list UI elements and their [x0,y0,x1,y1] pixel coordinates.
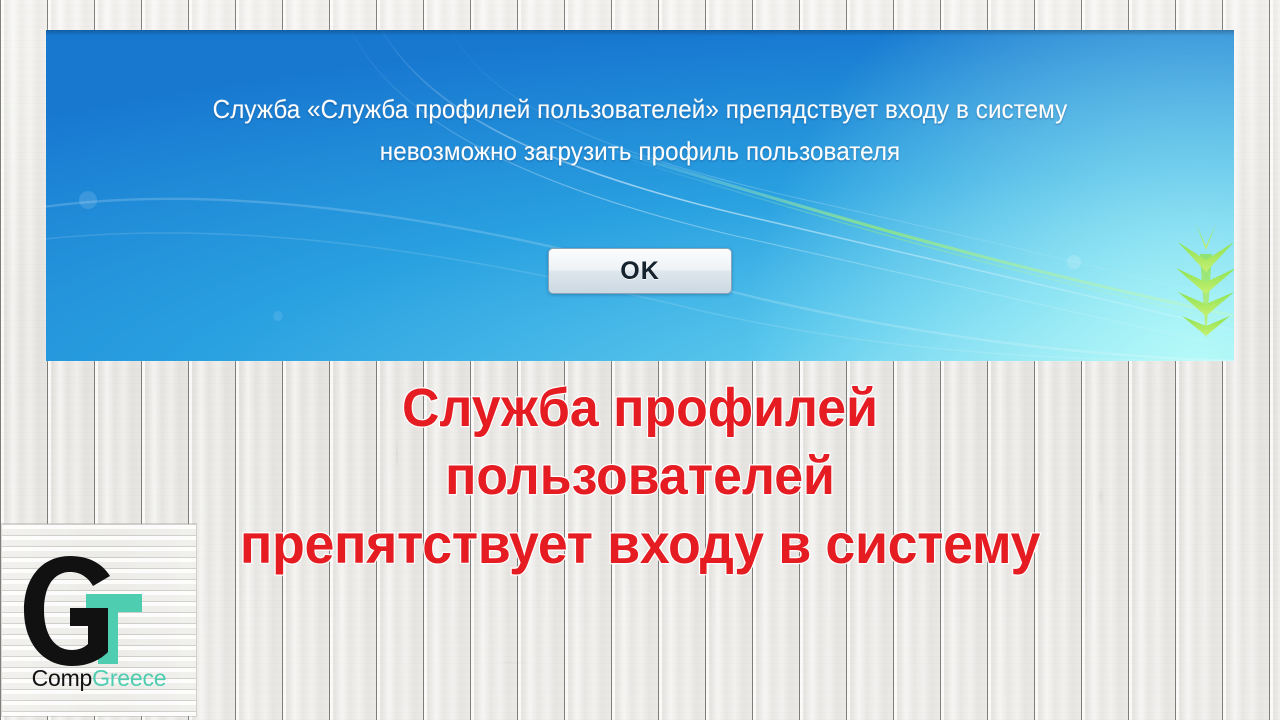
error-message-line-2: невозможно загрузить профиль пользовател… [88,130,1193,172]
ok-button[interactable]: OK [548,248,732,294]
logo-word-greece: Greece [92,665,166,691]
error-message: Служба «Служба профилей пользователей» п… [88,88,1193,172]
headline-title: Служба профилей пользователей препятству… [26,374,1255,578]
compgreece-wordmark: CompGreece [2,665,196,692]
headline-line-2: пользователей [26,442,1255,510]
banner-top-shadow [46,30,1234,36]
windows-error-banner: Служба «Служба профилей пользователей» п… [46,30,1234,361]
compgreece-mark-icon [2,552,196,670]
error-message-line-1: Служба «Служба профилей пользователей» п… [88,88,1193,130]
video-thumbnail-canvas: Служба «Служба профилей пользователей» п… [0,0,1280,720]
headline-line-1: Служба профилей [26,374,1255,442]
headline-line-3: препятствует входу в систему [26,510,1255,578]
wallpaper-swoosh-decoration [46,30,1234,361]
channel-logo: CompGreece [2,524,196,716]
logo-word-comp: Comp [32,665,93,691]
